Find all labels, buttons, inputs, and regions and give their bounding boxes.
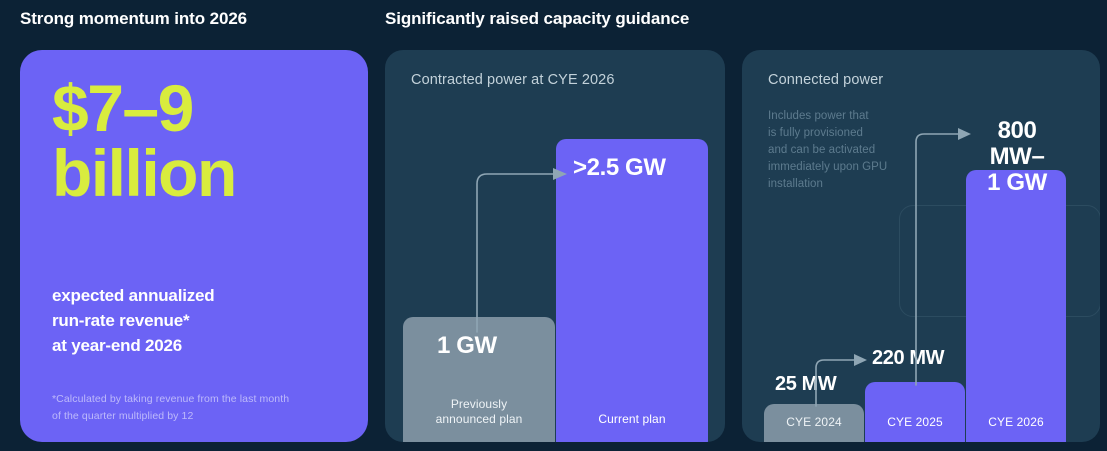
page-title-left: Strong momentum into 2026	[20, 9, 247, 29]
bar-current-plan: Current plan	[556, 139, 708, 442]
revenue-subhead: expected annualized run-rate revenue* at…	[52, 283, 214, 358]
connected-power-title: Connected power	[768, 72, 883, 88]
bar-label-current-plan: Current plan	[556, 412, 708, 428]
contracted-power-card: Contracted power at CYE 2026 Previously …	[385, 50, 725, 442]
revenue-headline: $7–9 billion	[52, 76, 236, 205]
contracted-power-title: Contracted power at CYE 2026	[411, 72, 615, 88]
slide-canvas: Strong momentum into 2026 Significantly …	[0, 0, 1107, 451]
bar-cye-2026: CYE 2026	[966, 170, 1066, 442]
connected-power-description: Includes power that is fully provisioned…	[768, 108, 887, 192]
bar-label-cye-2025: CYE 2025	[865, 415, 965, 431]
bar-value-cye-2024: 25 MW	[775, 374, 836, 396]
bar-label-cye-2024: CYE 2024	[764, 415, 864, 431]
bar-label-cye-2026: CYE 2026	[966, 415, 1066, 431]
bar-cye-2025: CYE 2025	[865, 382, 965, 442]
bar-value-current-plan: >2.5 GW	[573, 155, 666, 181]
bar-value-cye-2025: 220 MW	[872, 348, 944, 370]
bar-value-cye-2026: 800 MW– 1 GW	[974, 118, 1060, 196]
page-title-right: Significantly raised capacity guidance	[385, 9, 689, 29]
bar-cye-2024: CYE 2024	[764, 404, 864, 442]
connected-power-card: Connected power Includes power that is f…	[742, 50, 1100, 442]
bar-label-previously-announced-plan: Previously announced plan	[403, 397, 555, 428]
revenue-footnote: *Calculated by taking revenue from the l…	[52, 391, 289, 424]
bar-value-previously-announced-plan: 1 GW	[437, 333, 497, 359]
revenue-hero-card: $7–9 billion expected annualized run-rat…	[20, 50, 368, 442]
